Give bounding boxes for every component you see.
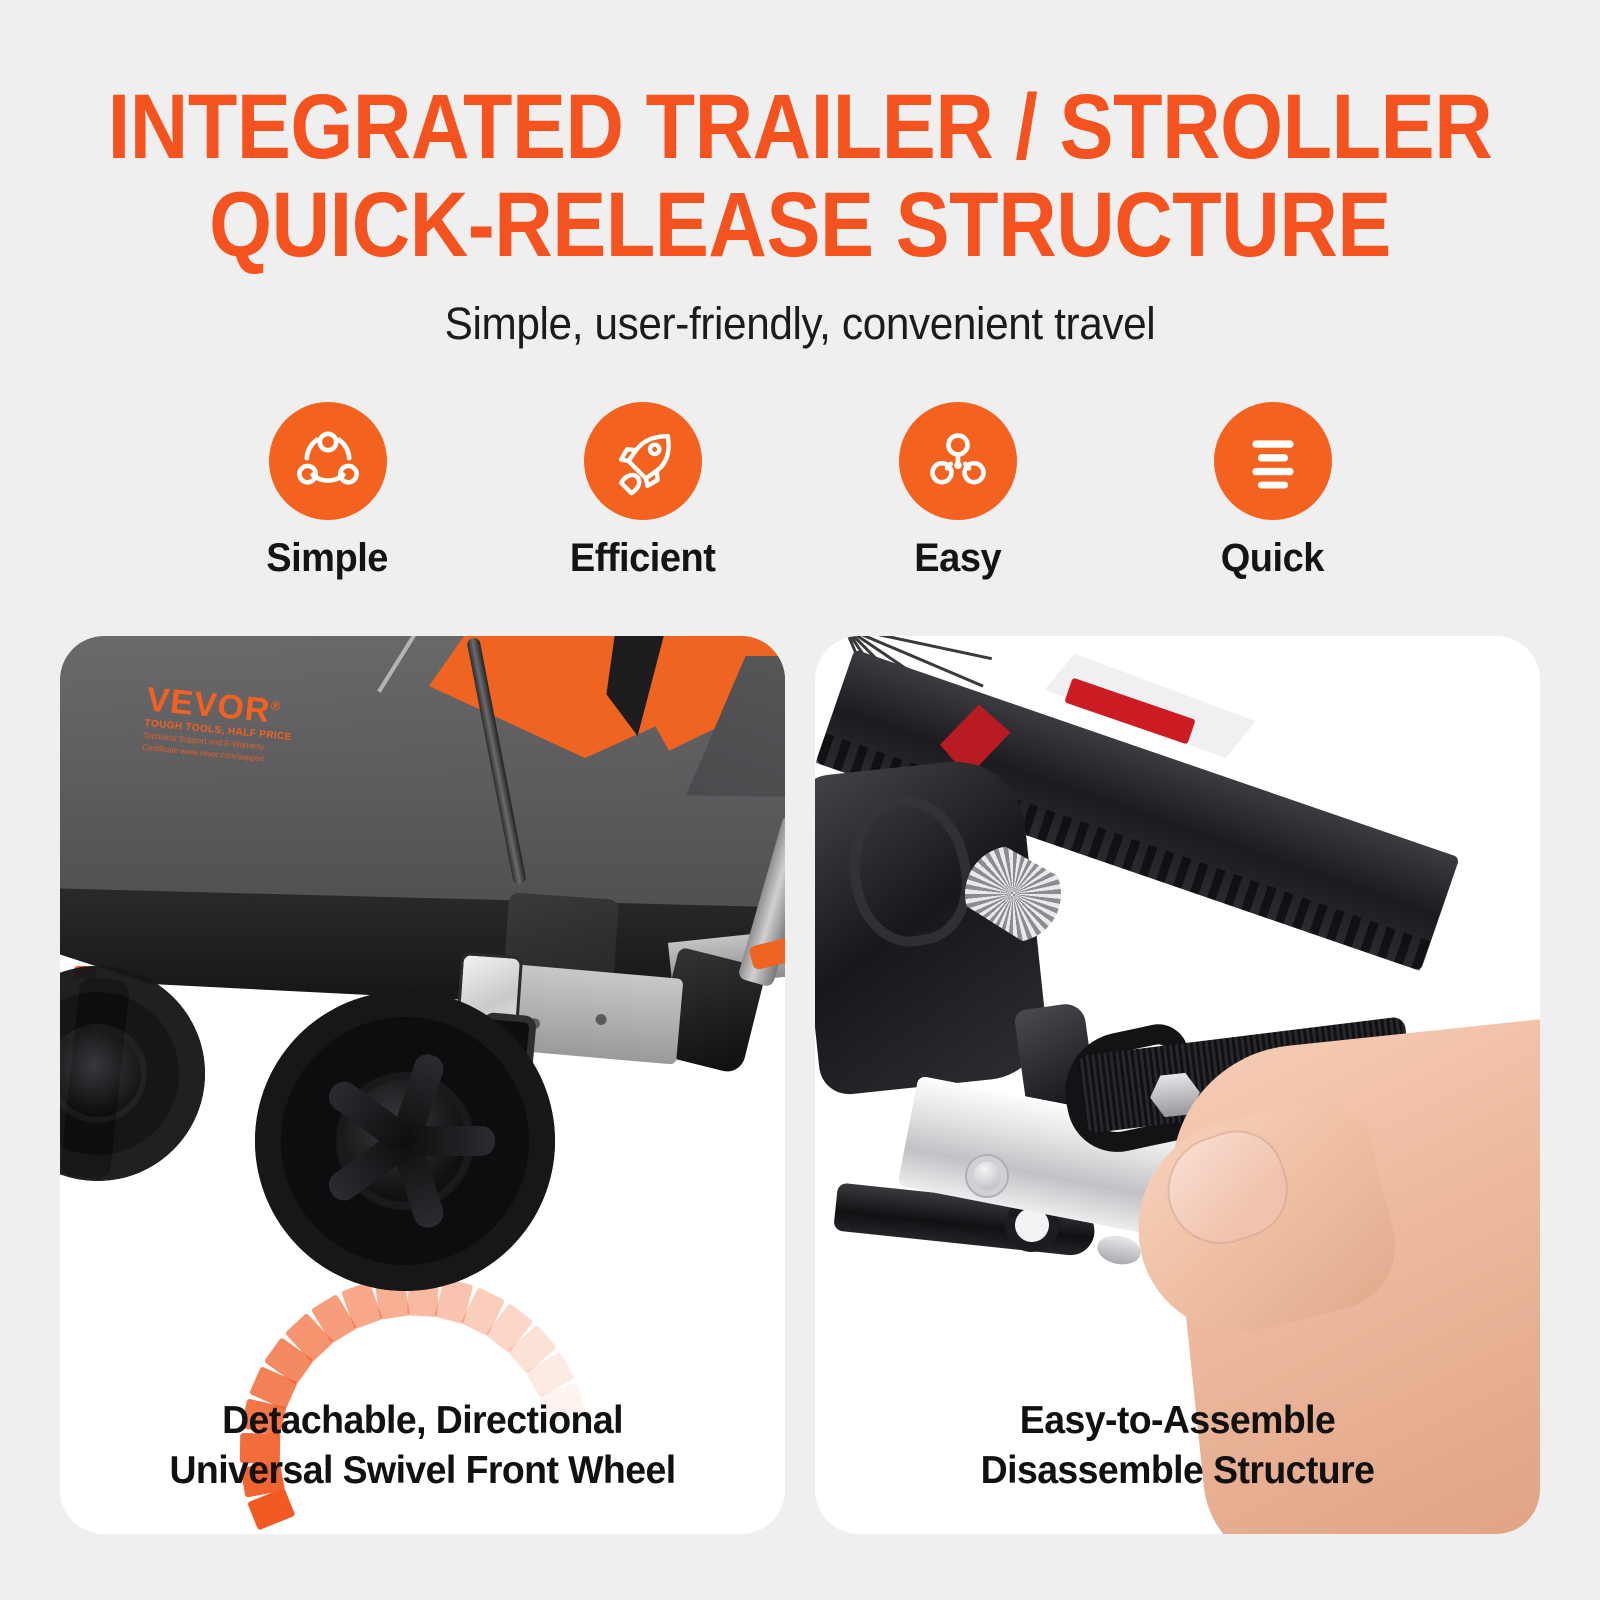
feature-label-efficient: Efficient — [570, 536, 716, 581]
feature-label-easy: Easy — [914, 536, 1001, 581]
registered-mark: ® — [270, 698, 282, 714]
front-swivel-wheel — [255, 991, 555, 1291]
feature-badge-efficient — [584, 402, 702, 520]
wheel-caption-line-2: Universal Swivel Front Wheel — [75, 1446, 771, 1496]
assembly-caption-line-1: Easy-to-Assemble — [830, 1396, 1526, 1446]
swivel-arc-dash — [341, 1281, 383, 1329]
feature-badge-quick — [1214, 402, 1332, 520]
feature-easy: Easy — [800, 402, 1115, 581]
page-subtitle: Simple, user-friendly, convenient travel — [48, 298, 1552, 350]
vevor-logo: VEVOR® TOUGH TOOLS, HALF PRICE Technical… — [142, 677, 296, 767]
assembly-card-caption: Easy-to-Assemble Disassemble Structure — [830, 1396, 1526, 1496]
wheel-card-caption: Detachable, Directional Universal Swivel… — [75, 1396, 771, 1496]
feature-badge-simple — [269, 402, 387, 520]
swivel-arc-dash — [485, 1303, 533, 1353]
feature-quick: Quick — [1115, 402, 1430, 581]
wheel-card[interactable]: VEVOR® TOUGH TOOLS, HALF PRICE Technical… — [60, 636, 785, 1534]
coupler-stud — [1095, 1232, 1144, 1268]
title-line-1: INTEGRATED TRAILER / STROLLER — [96, 78, 1504, 176]
card-row: VEVOR® TOUGH TOOLS, HALF PRICE Technical… — [60, 636, 1540, 1534]
rear-wheel — [60, 966, 205, 1181]
assembly-card[interactable]: Easy-to-Assemble Disassemble Structure — [815, 636, 1540, 1534]
header: INTEGRATED TRAILER / STROLLER QUICK-RELE… — [0, 0, 1600, 350]
swivel-arc-dash — [461, 1287, 505, 1336]
wheel-caption-line-1: Detachable, Directional — [75, 1396, 771, 1446]
swivel-arc-dash — [525, 1352, 575, 1398]
share-nodes-icon — [293, 426, 363, 496]
swivel-arc-dash — [264, 1337, 314, 1385]
assembly-caption-line-2: Disassemble Structure — [830, 1446, 1526, 1496]
feature-badge-easy — [899, 402, 1017, 520]
feature-efficient: Efficient — [485, 402, 800, 581]
feature-simple: Simple — [170, 402, 485, 581]
title-line-2: QUICK-RELEASE STRUCTURE — [96, 176, 1504, 274]
swivel-arc-dash — [311, 1294, 357, 1344]
feature-label-quick: Quick — [1221, 536, 1324, 581]
rocket-icon — [608, 426, 678, 496]
feature-label-simple: Simple — [267, 536, 389, 581]
page-title: INTEGRATED TRAILER / STROLLER QUICK-RELE… — [96, 78, 1504, 274]
stacked-lines-icon — [1240, 428, 1306, 494]
swivel-arc-dash — [507, 1325, 557, 1374]
feature-row: Simple Efficient — [0, 402, 1600, 581]
rear-wheel-hub — [60, 1031, 141, 1117]
molecule-nodes-icon — [923, 426, 993, 496]
swivel-arc-dash — [285, 1313, 334, 1363]
